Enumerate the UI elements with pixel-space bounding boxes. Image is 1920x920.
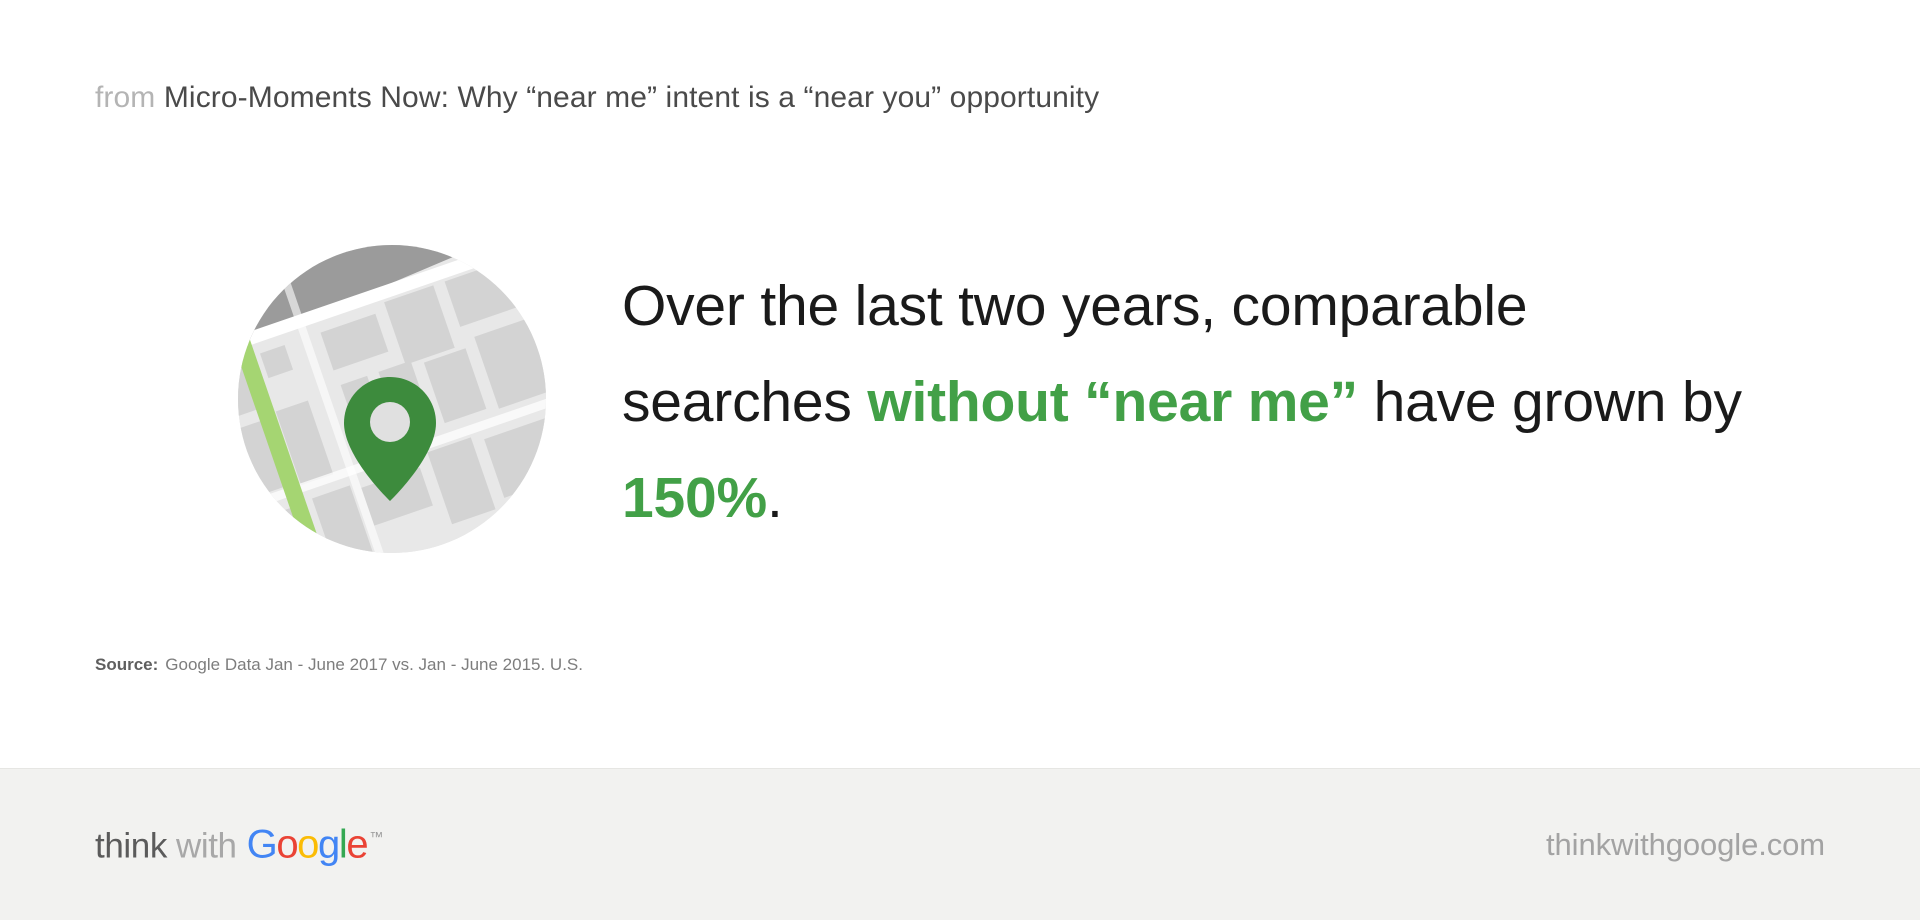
- article-eyebrow: from Micro-Moments Now: Why “near me” in…: [95, 78, 1099, 118]
- brand-word-think: think: [95, 826, 167, 866]
- footer-website-url[interactable]: thinkwithgoogle.com: [1546, 827, 1825, 863]
- source-label: Source:: [95, 655, 158, 674]
- google-letter-g2: g: [318, 822, 339, 866]
- page-footer: think with Google ™ thinkwithgoogle.com: [0, 768, 1920, 920]
- source-text: Google Data Jan - June 2017 vs. Jan - Ju…: [165, 655, 583, 674]
- statement-part-3: .: [767, 466, 783, 530]
- map-illustration: [238, 245, 546, 553]
- google-letter-o2: o: [297, 822, 318, 866]
- map-graphic: [238, 245, 546, 553]
- google-letter-e: e: [346, 822, 367, 866]
- pin-hole: [370, 402, 410, 442]
- infographic-card: from Micro-Moments Now: Why “near me” in…: [0, 0, 1920, 920]
- eyebrow-article-title: Micro-Moments Now: Why “near me” intent …: [164, 81, 1099, 114]
- statement-part-2: have grown by: [1358, 370, 1742, 434]
- brand-word-google: Google: [247, 822, 368, 867]
- brand-word-with: with: [176, 826, 237, 866]
- map-circle-clip: [238, 245, 546, 553]
- google-letter-o1: o: [276, 822, 297, 866]
- statistic-statement: Over the last two years, comparable sear…: [622, 258, 1762, 546]
- eyebrow-prefix: from: [95, 81, 155, 114]
- google-letter-g1: G: [247, 822, 277, 866]
- statement-highlight-phrase: without “near me”: [867, 370, 1358, 434]
- statement-highlight-percent: 150%: [622, 466, 767, 530]
- trademark-symbol: ™: [369, 828, 383, 844]
- source-note: Source:Google Data Jan - June 2017 vs. J…: [95, 653, 583, 677]
- think-with-google-logo[interactable]: think with Google ™: [95, 822, 383, 867]
